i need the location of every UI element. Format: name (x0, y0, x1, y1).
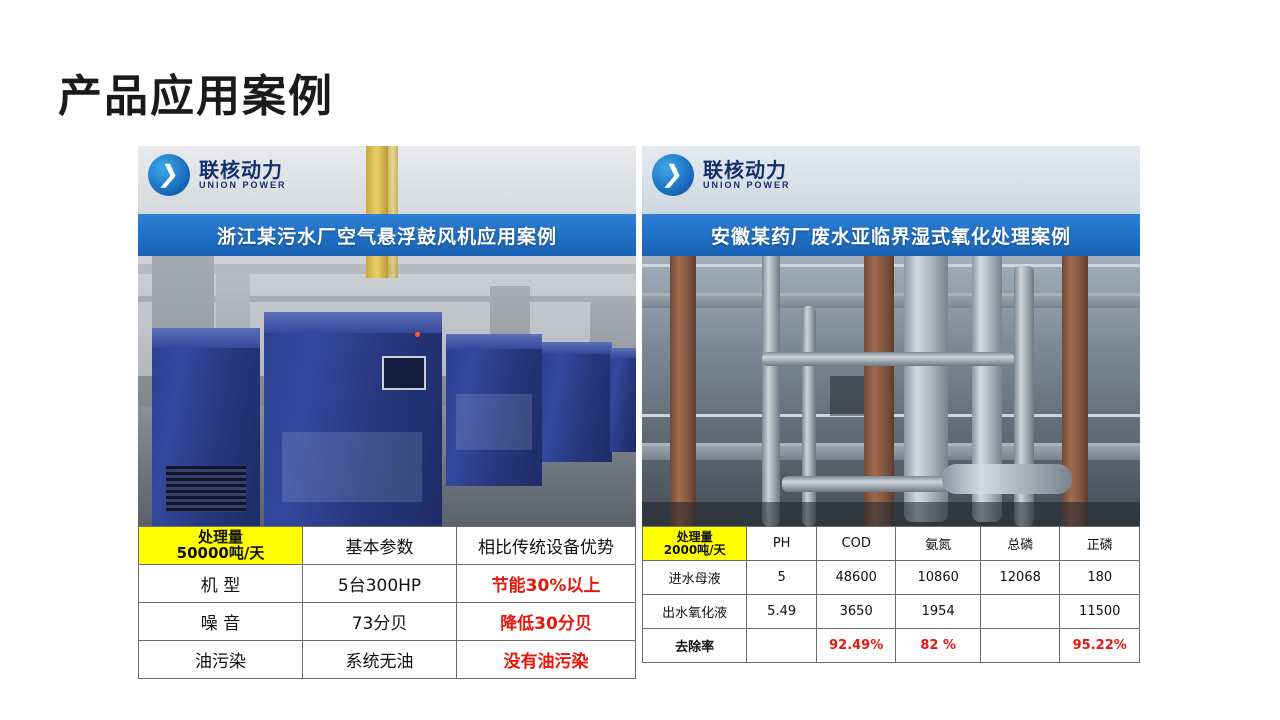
table-row: 出水氧化液 5.49 3650 1954 11500 (643, 595, 1140, 629)
table-header-row: 处理量 50000吨/天 基本参数 相比传统设备优势 (139, 527, 636, 565)
blower-unit (446, 334, 542, 486)
swoosh-logo-icon: ❯ (148, 154, 190, 196)
cell-ammonia: 1954 (896, 595, 980, 629)
blower-unit (542, 342, 612, 462)
spec-table-left: 处理量 50000吨/天 基本参数 相比传统设备优势 机 型 5台300HP 节… (138, 526, 636, 679)
row-label: 噪 音 (139, 603, 303, 641)
spec-table-right: 处理量 2000吨/天 PH COD 氨氮 总磷 正磷 进水母液 5 48600… (642, 526, 1140, 663)
row-label: 进水母液 (643, 561, 747, 595)
cell-cod: 48600 (816, 561, 896, 595)
row-value: 5台300HP (303, 565, 457, 603)
logo-name-cn: 联核动力 (703, 160, 791, 181)
cell-ph: 5.49 (747, 595, 817, 629)
blower-unit (152, 328, 260, 526)
cell-cod: 92.49% (816, 629, 896, 663)
cell-total-phosphorus (980, 629, 1060, 663)
blower-unit (610, 348, 636, 452)
logo-name-en: UNION POWER (199, 181, 287, 190)
table-row: 去除率 92.49% 82 % 95.22% (643, 629, 1140, 663)
header-capacity: 处理量 2000吨/天 (643, 527, 747, 561)
cell-orthophosphate: 11500 (1060, 595, 1140, 629)
case-panel-right: ❯ 联核动力 UNION POWER 安徽某药厂废水亚临界湿式氧化处理案例 处理… (642, 146, 1140, 679)
case-panels: ❯ 联核动力 UNION POWER 浙江某污水厂空气悬浮鼓风机应用案例 处理量… (138, 146, 1140, 679)
header-advantage: 相比传统设备优势 (457, 527, 636, 565)
row-label: 去除率 (643, 629, 747, 663)
row-value: 系统无油 (303, 641, 457, 679)
table-header-row: 处理量 2000吨/天 PH COD 氨氮 总磷 正磷 (643, 527, 1140, 561)
cell-ammonia: 82 % (896, 629, 980, 663)
header-basic-params: 基本参数 (303, 527, 457, 565)
row-label: 机 型 (139, 565, 303, 603)
cell-cod: 3650 (816, 595, 896, 629)
panel-caption: 安徽某药厂废水亚临界湿式氧化处理案例 (642, 214, 1140, 256)
table-row: 进水母液 5 48600 10860 12068 180 (643, 561, 1140, 595)
header-ph: PH (747, 527, 817, 561)
logo-name-cn: 联核动力 (199, 160, 287, 181)
brand-logo: ❯ 联核动力 UNION POWER (652, 154, 791, 196)
logo-name-en: UNION POWER (703, 181, 791, 190)
header-orthophosphate: 正磷 (1060, 527, 1140, 561)
cell-total-phosphorus: 12068 (980, 561, 1060, 595)
table-row: 油污染 系统无油 没有油污染 (139, 641, 636, 679)
header-ammonia: 氨氮 (896, 527, 980, 561)
cell-ph (747, 629, 817, 663)
cell-total-phosphorus (980, 595, 1060, 629)
cell-ammonia: 10860 (896, 561, 980, 595)
cell-orthophosphate: 95.22% (1060, 629, 1140, 663)
photo-oxidation-plant: ❯ 联核动力 UNION POWER 安徽某药厂废水亚临界湿式氧化处理案例 (642, 146, 1140, 526)
blower-unit (264, 312, 442, 526)
case-panel-left: ❯ 联核动力 UNION POWER 浙江某污水厂空气悬浮鼓风机应用案例 处理量… (138, 146, 636, 679)
row-label: 出水氧化液 (643, 595, 747, 629)
panel-caption: 浙江某污水厂空气悬浮鼓风机应用案例 (138, 214, 636, 256)
row-advantage: 节能30%以上 (457, 565, 636, 603)
page-title: 产品应用案例 (58, 60, 334, 124)
cell-orthophosphate: 180 (1060, 561, 1140, 595)
cell-ph: 5 (747, 561, 817, 595)
table-row: 机 型 5台300HP 节能30%以上 (139, 565, 636, 603)
header-capacity: 处理量 50000吨/天 (139, 527, 303, 565)
header-total-phosphorus: 总磷 (980, 527, 1060, 561)
row-label: 油污染 (139, 641, 303, 679)
photo-blower-room: ❯ 联核动力 UNION POWER 浙江某污水厂空气悬浮鼓风机应用案例 (138, 146, 636, 526)
table-row: 噪 音 73分贝 降低30分贝 (139, 603, 636, 641)
row-advantage: 降低30分贝 (457, 603, 636, 641)
header-cod: COD (816, 527, 896, 561)
brand-logo: ❯ 联核动力 UNION POWER (148, 154, 287, 196)
swoosh-logo-icon: ❯ (652, 154, 694, 196)
row-value: 73分贝 (303, 603, 457, 641)
row-advantage: 没有油污染 (457, 641, 636, 679)
